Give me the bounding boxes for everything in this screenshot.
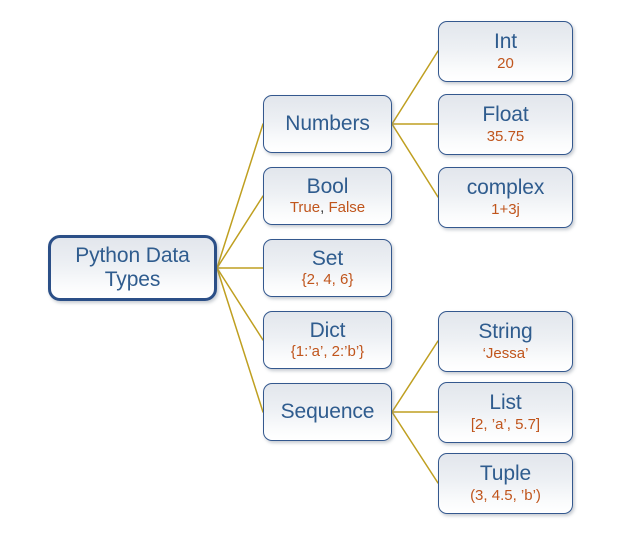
node-title: List bbox=[489, 392, 521, 415]
node-sequence[interactable]: Sequence bbox=[263, 383, 392, 441]
node-title: Python Data Types bbox=[51, 244, 214, 292]
edge-root-numbers bbox=[217, 124, 263, 268]
node-dict[interactable]: Dict {1:’a’, 2:’b’} bbox=[263, 311, 392, 369]
node-value: ‘Jessa’ bbox=[483, 346, 529, 362]
node-title: Float bbox=[482, 104, 528, 127]
edge-root-bool bbox=[217, 196, 263, 268]
node-value: (3, 4.5, ’b’) bbox=[470, 488, 541, 504]
node-value: {2, 4, 6} bbox=[302, 272, 354, 288]
node-value: [2, ’a’, 5.7] bbox=[471, 417, 540, 433]
node-title: Numbers bbox=[285, 113, 370, 136]
node-int[interactable]: Int 20 bbox=[438, 21, 573, 82]
node-value: {1:’a’, 2:’b’} bbox=[291, 344, 364, 360]
diagram-canvas: Python Data Types Numbers Bool True, Fal… bbox=[0, 0, 618, 539]
node-float[interactable]: Float 35.75 bbox=[438, 94, 573, 155]
node-complex[interactable]: complex 1+3j bbox=[438, 167, 573, 228]
node-value: 1+3j bbox=[491, 202, 520, 218]
node-bool[interactable]: Bool True, False bbox=[263, 167, 392, 225]
edge-root-dict bbox=[217, 268, 263, 340]
node-value: 20 bbox=[497, 56, 514, 72]
node-string[interactable]: String ‘Jessa’ bbox=[438, 311, 573, 372]
edge-sequence-tuple bbox=[392, 412, 438, 483]
edge-sequence-string bbox=[392, 341, 438, 412]
node-title: String bbox=[478, 321, 532, 344]
node-numbers[interactable]: Numbers bbox=[263, 95, 392, 153]
edge-numbers-int bbox=[392, 51, 438, 124]
node-title: complex bbox=[467, 177, 545, 200]
node-title: Dict bbox=[310, 320, 346, 343]
node-python-data-types[interactable]: Python Data Types bbox=[48, 235, 217, 301]
edge-root-sequence bbox=[217, 268, 263, 412]
node-set[interactable]: Set {2, 4, 6} bbox=[263, 239, 392, 297]
node-title: Sequence bbox=[281, 401, 375, 424]
node-title: Bool bbox=[307, 176, 349, 199]
edge-numbers-complex bbox=[392, 124, 438, 197]
node-title: Tuple bbox=[480, 463, 531, 486]
node-list[interactable]: List [2, ’a’, 5.7] bbox=[438, 382, 573, 443]
node-title: Int bbox=[494, 31, 517, 54]
node-title: Set bbox=[312, 248, 343, 271]
node-tuple[interactable]: Tuple (3, 4.5, ’b’) bbox=[438, 453, 573, 514]
node-value: True, False bbox=[290, 200, 365, 216]
node-value: 35.75 bbox=[487, 129, 525, 145]
